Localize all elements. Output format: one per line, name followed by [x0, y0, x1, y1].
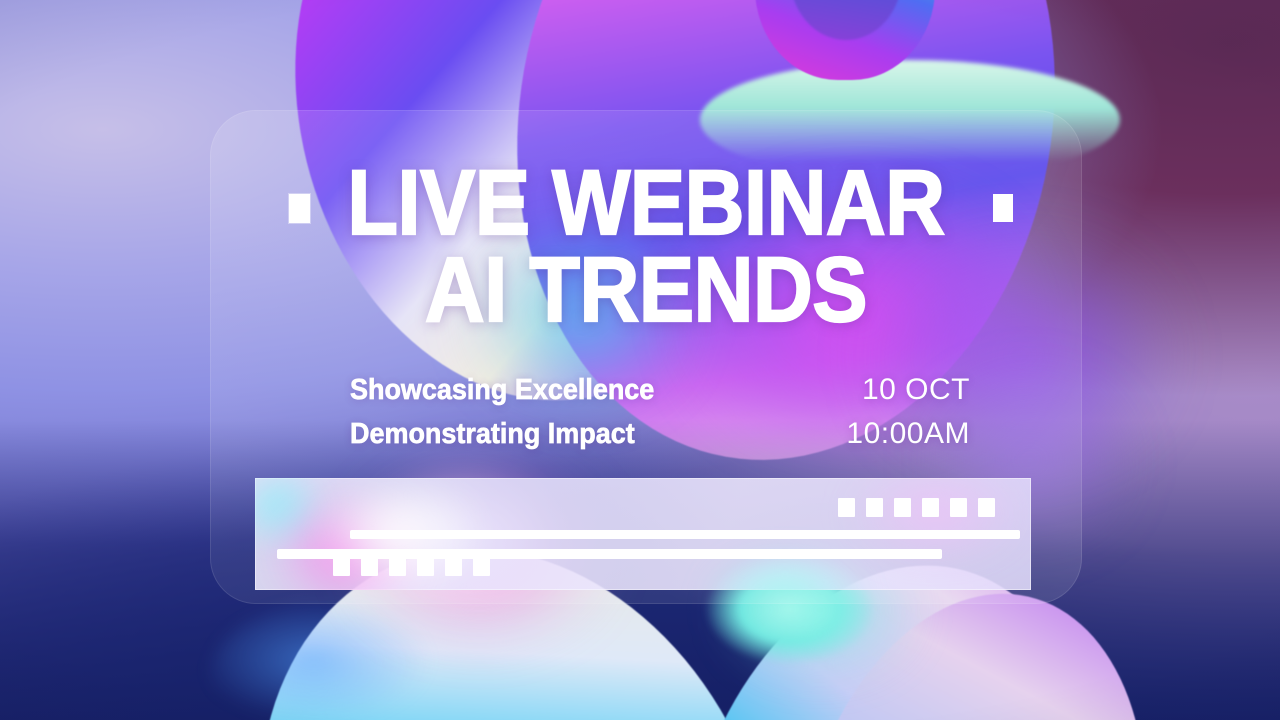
- event-date: 10 OCT: [846, 368, 970, 412]
- dot-square: [445, 557, 462, 576]
- tagline-line-2: Demonstrating Impact: [350, 418, 635, 450]
- tagline-line-1: Showcasing Excellence: [350, 374, 654, 406]
- square-marker-icon-right: [993, 194, 1013, 222]
- schedule-block: 10 OCT 10:00AM: [846, 368, 970, 456]
- headline-line-1: LIVE WEBINAR: [254, 162, 1039, 244]
- panel-glow-lilac: [815, 478, 1031, 578]
- panel-glow-teal: [675, 536, 895, 590]
- decorative-bar-upper: [350, 530, 1020, 539]
- dot-square: [333, 557, 350, 576]
- dot-square: [473, 557, 490, 576]
- dot-square: [417, 557, 434, 576]
- dot-row-top-right: [838, 498, 995, 517]
- dot-square: [838, 498, 855, 517]
- dot-square: [894, 498, 911, 517]
- dot-row-bottom-left: [333, 557, 490, 576]
- decorative-panel: [255, 478, 1031, 590]
- tagline-block: Showcasing Excellence Demonstrating Impa…: [350, 368, 654, 456]
- dot-square: [978, 498, 995, 517]
- headline-line-2: AI TRENDS: [254, 248, 1039, 332]
- dot-square: [389, 557, 406, 576]
- dot-square: [950, 498, 967, 517]
- event-time: 10:00AM: [846, 412, 970, 456]
- headline-block: LIVE WEBINAR AI TRENDS: [210, 162, 1082, 332]
- dot-square: [361, 557, 378, 576]
- poster-canvas: LIVE WEBINAR AI TRENDS Showcasing Excell…: [0, 0, 1280, 720]
- dot-square: [922, 498, 939, 517]
- glass-card: LIVE WEBINAR AI TRENDS Showcasing Excell…: [210, 110, 1082, 604]
- tagline-schedule-row: Showcasing Excellence Demonstrating Impa…: [350, 368, 970, 456]
- dot-square: [866, 498, 883, 517]
- square-marker-icon-left: [289, 194, 310, 223]
